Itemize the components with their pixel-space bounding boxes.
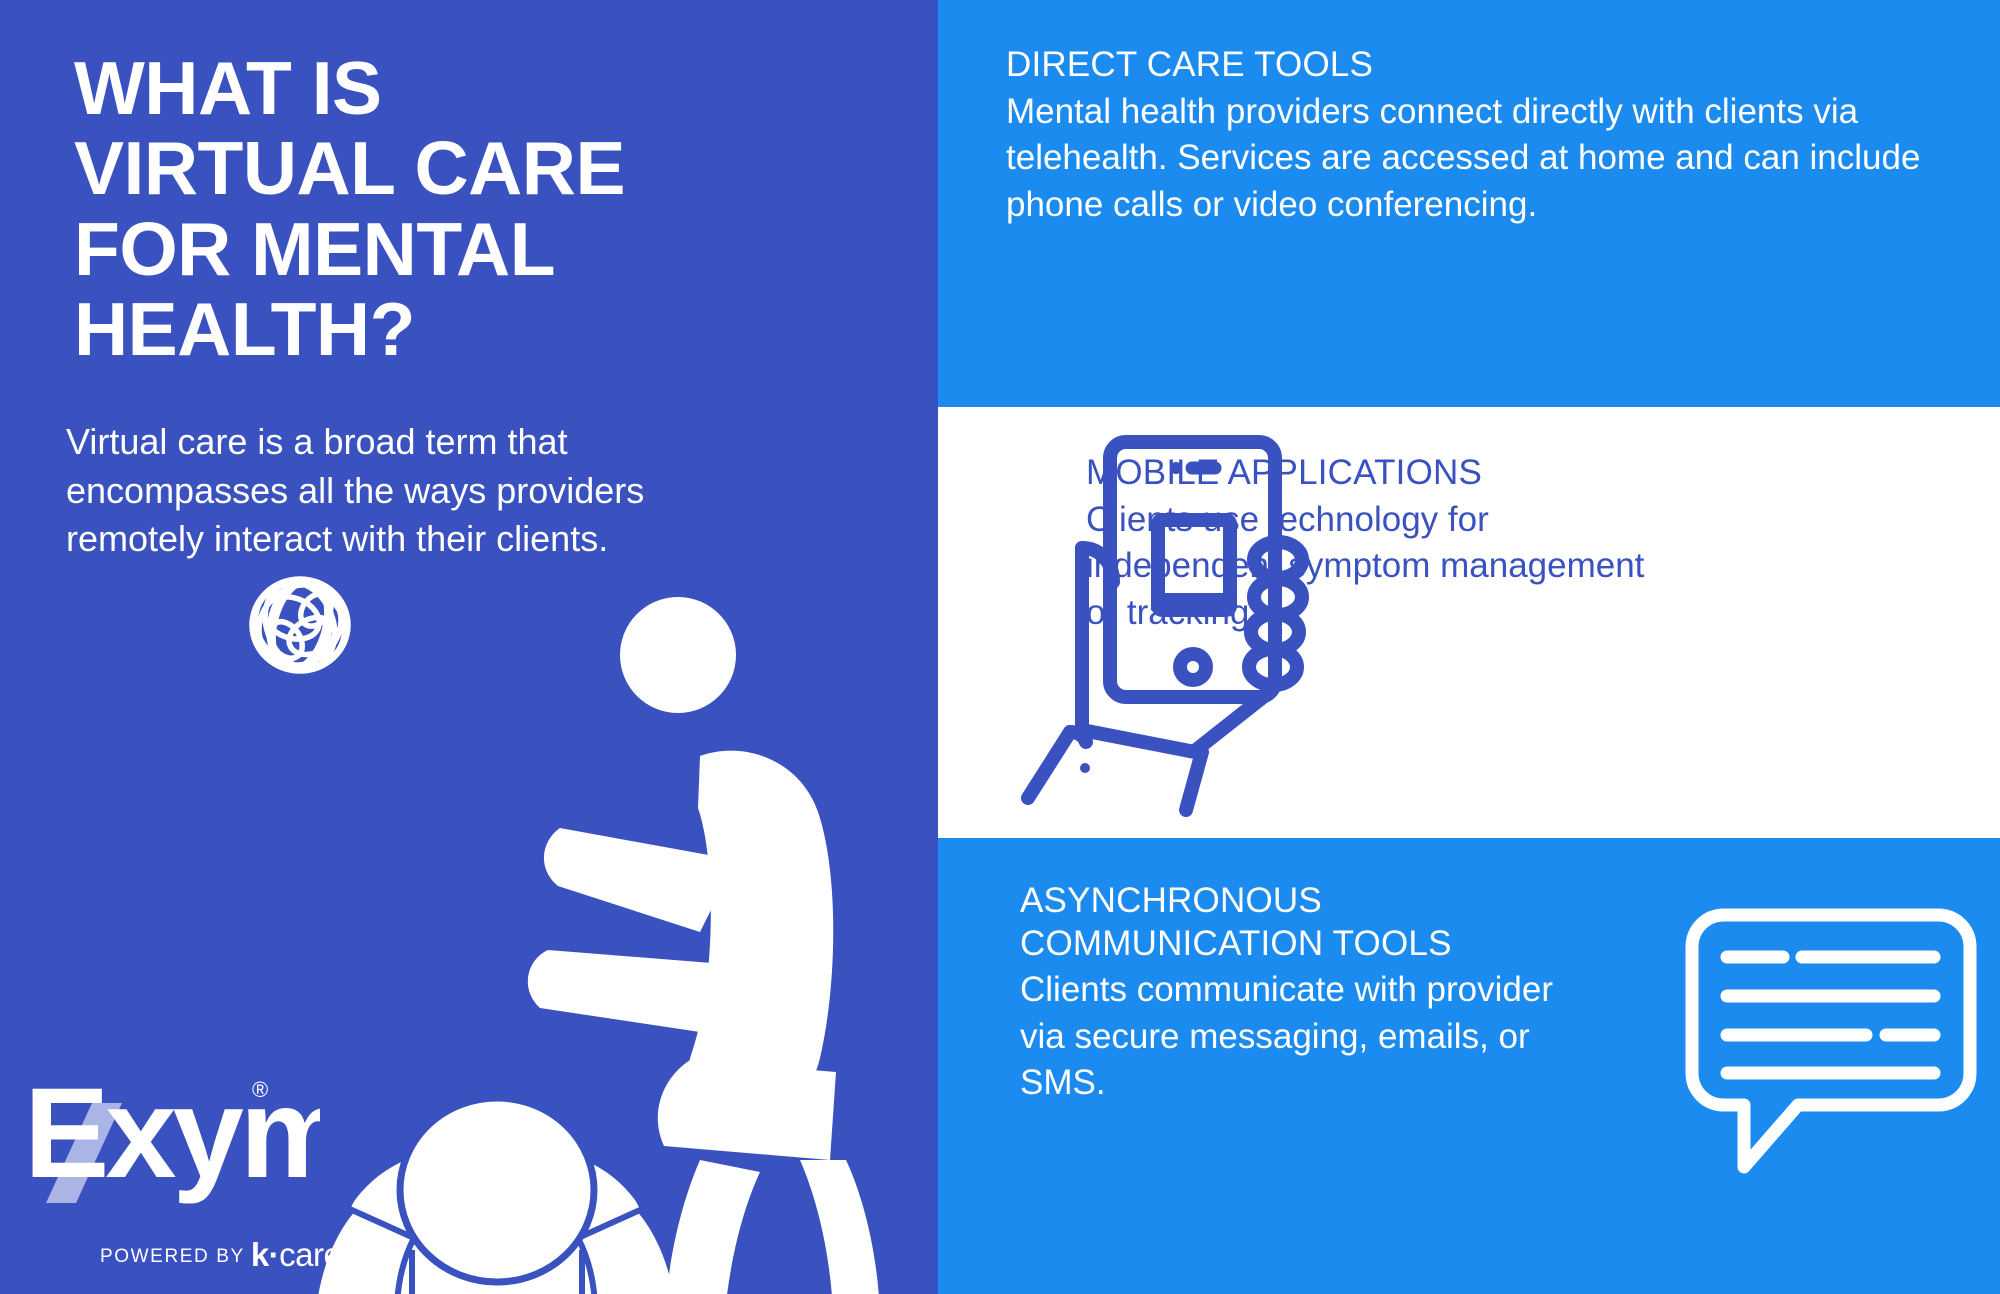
- powered-by-line: POWERED BYk·care: [100, 1236, 341, 1274]
- logo-wordmark: Exym: [30, 1062, 320, 1205]
- block-asynchronous-communication-tools: ASYNCHRONOUS COMMUNICATION TOOLS Clients…: [938, 880, 1580, 1107]
- block-mobile-applications: MOBILE APPLICATIONS Clients use technolo…: [1020, 452, 1646, 636]
- block-direct-care-tools: DIRECT CARE TOOLS Mental health provider…: [938, 0, 1996, 228]
- infographic-canvas: What Is Virtual Care For Mental Health? …: [0, 0, 2000, 1294]
- page-title: What Is Virtual Care For Mental Health?: [74, 48, 714, 369]
- seated-hunched-person-icon: [312, 1098, 680, 1294]
- kcare-dot: ·: [269, 1236, 280, 1273]
- powered-by-label: POWERED BY: [100, 1246, 245, 1267]
- kcare-wordmark: k·care: [251, 1236, 342, 1273]
- logo-registered-mark: ®: [252, 1077, 268, 1103]
- asynchronous-title: ASYNCHRONOUS COMMUNICATION TOOLS: [1020, 880, 1580, 965]
- exym-logo: Exym: [30, 1055, 320, 1205]
- asynchronous-body: Clients communicate with provider via se…: [1020, 967, 1580, 1107]
- mobile-applications-title: MOBILE APPLICATIONS: [1086, 452, 1646, 495]
- mobile-applications-body: Clients use technology for independent s…: [1086, 497, 1646, 637]
- kcare-care: care: [279, 1236, 341, 1273]
- kcare-k: k: [251, 1236, 269, 1273]
- lead-paragraph: Virtual care is a broad term that encomp…: [66, 418, 706, 564]
- direct-care-tools-body: Mental health providers connect directly…: [1006, 89, 1996, 229]
- tangled-thought-scribble-icon: [240, 567, 360, 684]
- speech-bubble-icon: [1680, 905, 1980, 1185]
- direct-care-tools-title: DIRECT CARE TOOLS: [1006, 44, 1996, 87]
